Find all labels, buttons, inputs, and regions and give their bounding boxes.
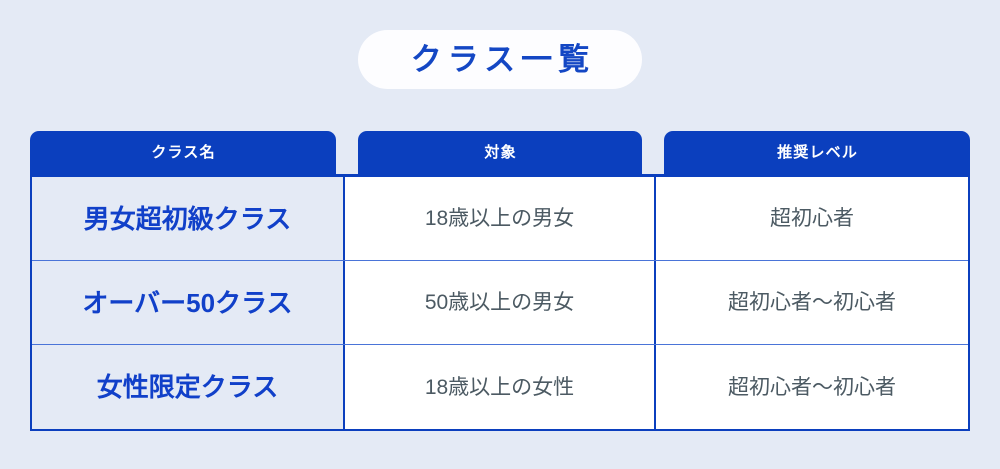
table-cell-class-name: 男女超初級クラス: [32, 177, 345, 260]
table-header-row: クラス名 対象 推奨レベル: [30, 131, 970, 174]
page-title: クラス一覧: [405, 44, 595, 75]
class-list-page: { "page": { "title": "クラス一覧", "backgroun…: [0, 0, 1000, 469]
table-cell-level: 超初心者〜初心者: [656, 261, 968, 344]
table-cell-target: 18歳以上の男女: [345, 177, 656, 260]
table-cell-class-name: 女性限定クラス: [32, 345, 345, 429]
page-title-pill: クラス一覧: [358, 30, 642, 89]
header-tab-gap: [642, 131, 664, 174]
table-cell-level: 超初心者: [656, 177, 968, 260]
table-header-class-name-label: クラス名: [150, 145, 216, 160]
table-row: 男女超初級クラス 18歳以上の男女 超初心者: [32, 177, 968, 261]
table-header-target-label: 対象: [483, 145, 517, 160]
level-text: 超初心者: [770, 208, 854, 229]
page-title-container: クラス一覧: [0, 30, 1000, 89]
table-body: 男女超初級クラス 18歳以上の男女 超初心者 オーバー50クラス 50歳以上の男…: [30, 174, 970, 431]
target-text: 18歳以上の女性: [425, 377, 574, 398]
class-name-text: オーバー50クラス: [82, 290, 292, 316]
table-header-level: 推奨レベル: [664, 131, 970, 174]
target-text: 18歳以上の男女: [425, 208, 574, 229]
table-cell-target: 18歳以上の女性: [345, 345, 656, 429]
class-name-text: 女性限定クラス: [97, 374, 278, 400]
table-row: 女性限定クラス 18歳以上の女性 超初心者〜初心者: [32, 345, 968, 429]
table-header-class-name: クラス名: [30, 131, 336, 174]
header-tab-gap: [336, 131, 358, 174]
class-table: クラス名 対象 推奨レベル 男女超初級クラス 18歳以上の男女 超初心者 オーバ…: [30, 131, 970, 431]
level-text: 超初心者〜初心者: [728, 292, 896, 313]
table-header-level-label: 推奨レベル: [776, 145, 858, 160]
table-header-target: 対象: [358, 131, 642, 174]
table-row: オーバー50クラス 50歳以上の男女 超初心者〜初心者: [32, 261, 968, 345]
table-cell-level: 超初心者〜初心者: [656, 345, 968, 429]
level-text: 超初心者〜初心者: [728, 377, 896, 398]
target-text: 50歳以上の男女: [425, 292, 574, 313]
table-cell-class-name: オーバー50クラス: [32, 261, 345, 344]
class-name-text: 男女超初級クラス: [84, 206, 291, 232]
table-cell-target: 50歳以上の男女: [345, 261, 656, 344]
